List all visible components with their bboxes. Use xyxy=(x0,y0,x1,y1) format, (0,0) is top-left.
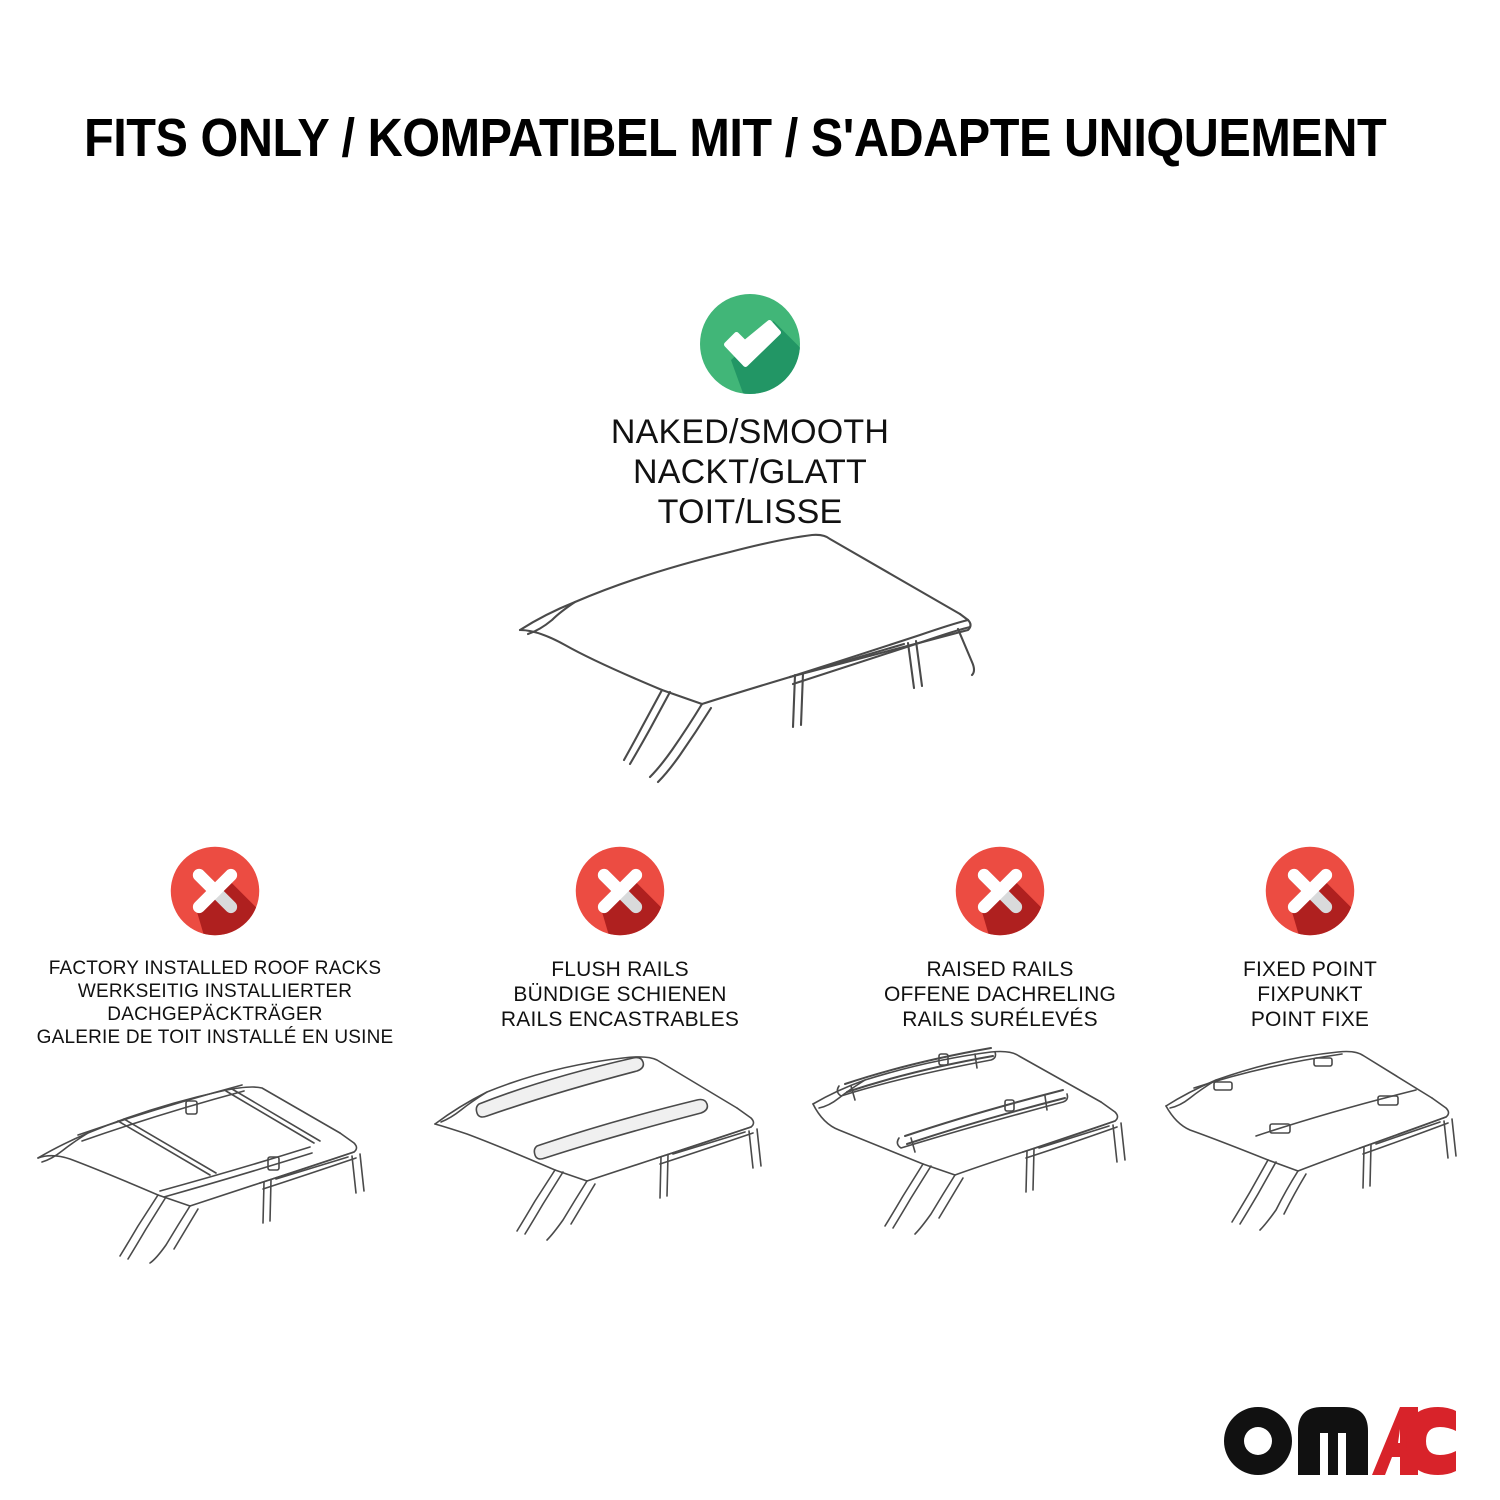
incompatible-label-0: FACTORY INSTALLED ROOF RACKS WERKSEITIG … xyxy=(10,957,420,1049)
cross-icon-wrap-3 xyxy=(1160,845,1460,949)
omac-logo xyxy=(1222,1405,1457,1477)
car-roof-factory-racks-illustration xyxy=(10,1063,420,1263)
incompatible-item-raised-rails: RAISED RAILS OFFENE DACHRELING RAILS SUR… xyxy=(805,845,1195,1246)
incompatible-label-0-line-4: GALERIE DE TOIT INSTALLÉ EN USINE xyxy=(10,1026,420,1049)
incompatible-label-2-line-3: RAILS SURÉLEVÉS xyxy=(805,1007,1195,1032)
cross-icon-wrap-0 xyxy=(10,845,420,949)
compatible-label: NAKED/SMOOTH NACKT/GLATT TOIT/LISSE xyxy=(490,412,1010,532)
check-circle-icon xyxy=(698,292,802,396)
page-title: FITS ONLY / KOMPATIBEL MIT / S'ADAPTE UN… xyxy=(84,108,1290,168)
omac-logo-mark xyxy=(1222,1405,1457,1477)
incompatible-item-flush-rails: FLUSH RAILS BÜNDIGE SCHIENEN RAILS ENCAS… xyxy=(425,845,815,1246)
car-roof-raised-rails-illustration xyxy=(805,1046,1195,1246)
incompatible-label-2-line-1: RAISED RAILS xyxy=(805,957,1195,982)
incompatible-label-2-line-2: OFFENE DACHRELING xyxy=(805,982,1195,1007)
incompatible-label-3-line-3: POINT FIXE xyxy=(1160,1007,1460,1032)
incompatible-label-0-line-2: WERKSEITIG INSTALLIERTER xyxy=(10,980,420,1003)
logo-letter-o xyxy=(1224,1407,1292,1475)
logo-letter-c xyxy=(1406,1407,1456,1475)
cross-circle-icon xyxy=(954,845,1046,937)
compatible-label-line-1: NAKED/SMOOTH xyxy=(490,412,1010,452)
compatibility-infographic: FITS ONLY / KOMPATIBEL MIT / S'ADAPTE UN… xyxy=(0,0,1500,1500)
incompatible-label-1-line-3: RAILS ENCASTRABLES xyxy=(425,1007,815,1032)
cross-circle-icon xyxy=(169,845,261,937)
incompatible-label-3-line-2: FIXPUNKT xyxy=(1160,982,1460,1007)
incompatible-item-fixed-point: FIXED POINT FIXPUNKT POINT FIXE xyxy=(1160,845,1460,1246)
car-roof-fixed-point-illustration xyxy=(1160,1046,1460,1246)
incompatible-label-3: FIXED POINT FIXPUNKT POINT FIXE xyxy=(1160,957,1460,1032)
car-roof-flush-rails-illustration xyxy=(425,1046,815,1246)
incompatible-label-1: FLUSH RAILS BÜNDIGE SCHIENEN RAILS ENCAS… xyxy=(425,957,815,1032)
incompatible-label-1-line-2: BÜNDIGE SCHIENEN xyxy=(425,982,815,1007)
incompatible-label-2: RAISED RAILS OFFENE DACHRELING RAILS SUR… xyxy=(805,957,1195,1032)
cross-icon-wrap-1 xyxy=(425,845,815,949)
cross-circle-icon xyxy=(1264,845,1356,937)
compatible-label-line-2: NACKT/GLATT xyxy=(490,452,1010,492)
incompatible-section: FACTORY INSTALLED ROOF RACKS WERKSEITIG … xyxy=(0,845,1500,1265)
incompatible-label-1-line-1: FLUSH RAILS xyxy=(425,957,815,982)
incompatible-label-0-line-3: DACHGEPÄCKTRÄGER xyxy=(10,1003,420,1026)
incompatible-label-3-line-1: FIXED POINT xyxy=(1160,957,1460,982)
cross-circle-icon xyxy=(574,845,666,937)
check-icon-wrap xyxy=(490,292,1010,396)
logo-letter-m xyxy=(1298,1407,1368,1475)
car-roof-naked-smooth-illustration xyxy=(490,522,1010,802)
compatible-section: NAKED/SMOOTH NACKT/GLATT TOIT/LISSE xyxy=(490,292,1010,532)
incompatible-label-0-line-1: FACTORY INSTALLED ROOF RACKS xyxy=(10,957,420,980)
incompatible-item-factory-installed-roof-racks: FACTORY INSTALLED ROOF RACKS WERKSEITIG … xyxy=(10,845,420,1263)
cross-icon-wrap-2 xyxy=(805,845,1195,949)
